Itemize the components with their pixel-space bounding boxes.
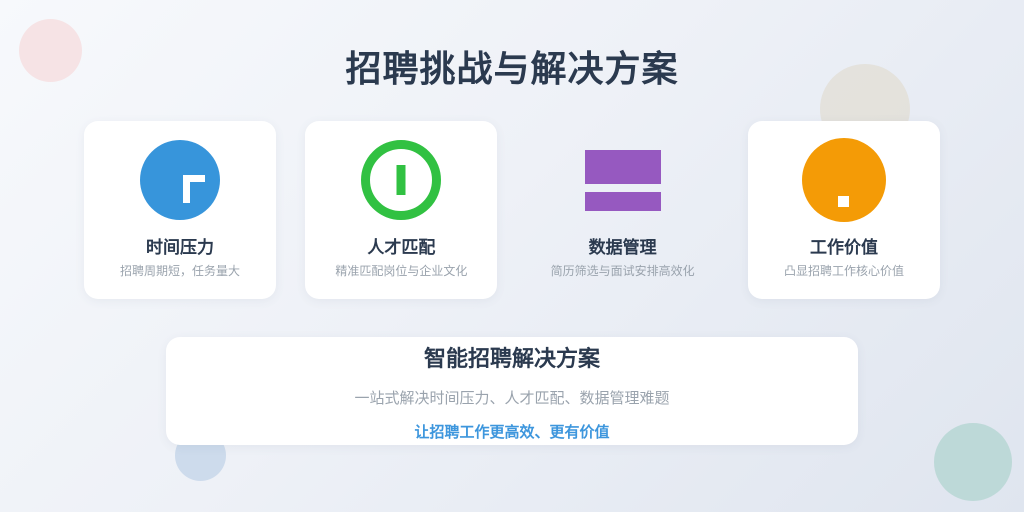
page-title: 招聘挑战与解决方案 (0, 40, 1024, 92)
card-talent-match[interactable]: 人才匹配 精准匹配岗位与企业文化 (305, 121, 497, 299)
data-bar-top (585, 150, 661, 184)
value-inner-square (838, 196, 849, 207)
ring-person-icon (361, 140, 441, 220)
card-icon-wrap (748, 121, 940, 239)
card-title: 时间压力 (146, 239, 214, 256)
card-title: 工作价值 (810, 239, 878, 256)
card-icon-wrap (84, 121, 276, 239)
solution-subtitle: 一站式解决时间压力、人才匹配、数据管理难题 (354, 387, 669, 408)
decorative-teal-circle (934, 423, 1012, 501)
clock-hand-horizontal (183, 175, 205, 182)
slide-canvas: 招聘挑战与解决方案 时间压力 招聘周期短，任务量大 人才匹配 精准匹配岗位与企业… (0, 0, 1024, 512)
solution-title: 智能招聘解决方案 (424, 341, 600, 373)
card-title: 数据管理 (589, 239, 657, 256)
clock-icon (140, 140, 220, 220)
card-time-pressure[interactable]: 时间压力 招聘周期短，任务量大 (84, 121, 276, 299)
card-work-value[interactable]: 工作价值 凸显招聘工作核心价值 (748, 121, 940, 299)
card-subtitle: 精准匹配岗位与企业文化 (335, 265, 467, 277)
challenge-card-row: 时间压力 招聘周期短，任务量大 人才匹配 精准匹配岗位与企业文化 数据管理 简历… (84, 121, 940, 299)
card-icon-wrap (527, 121, 719, 239)
card-icon-wrap (305, 121, 497, 239)
ring-inner-bar (397, 165, 406, 195)
card-data-management[interactable]: 数据管理 简历筛选与面试安排高效化 (527, 121, 719, 299)
card-subtitle: 凸显招聘工作核心价值 (784, 265, 904, 277)
solution-panel: 智能招聘解决方案 一站式解决时间压力、人才匹配、数据管理难题 让招聘工作更高效、… (166, 337, 858, 445)
data-bars-icon (585, 150, 661, 211)
card-title: 人才匹配 (367, 239, 435, 256)
data-bar-bottom (585, 192, 661, 211)
solution-accent: 让招聘工作更高效、更有价值 (414, 421, 609, 442)
card-subtitle: 简历筛选与面试安排高效化 (551, 265, 695, 277)
value-circle-icon (802, 138, 886, 222)
card-subtitle: 招聘周期短，任务量大 (120, 265, 240, 277)
